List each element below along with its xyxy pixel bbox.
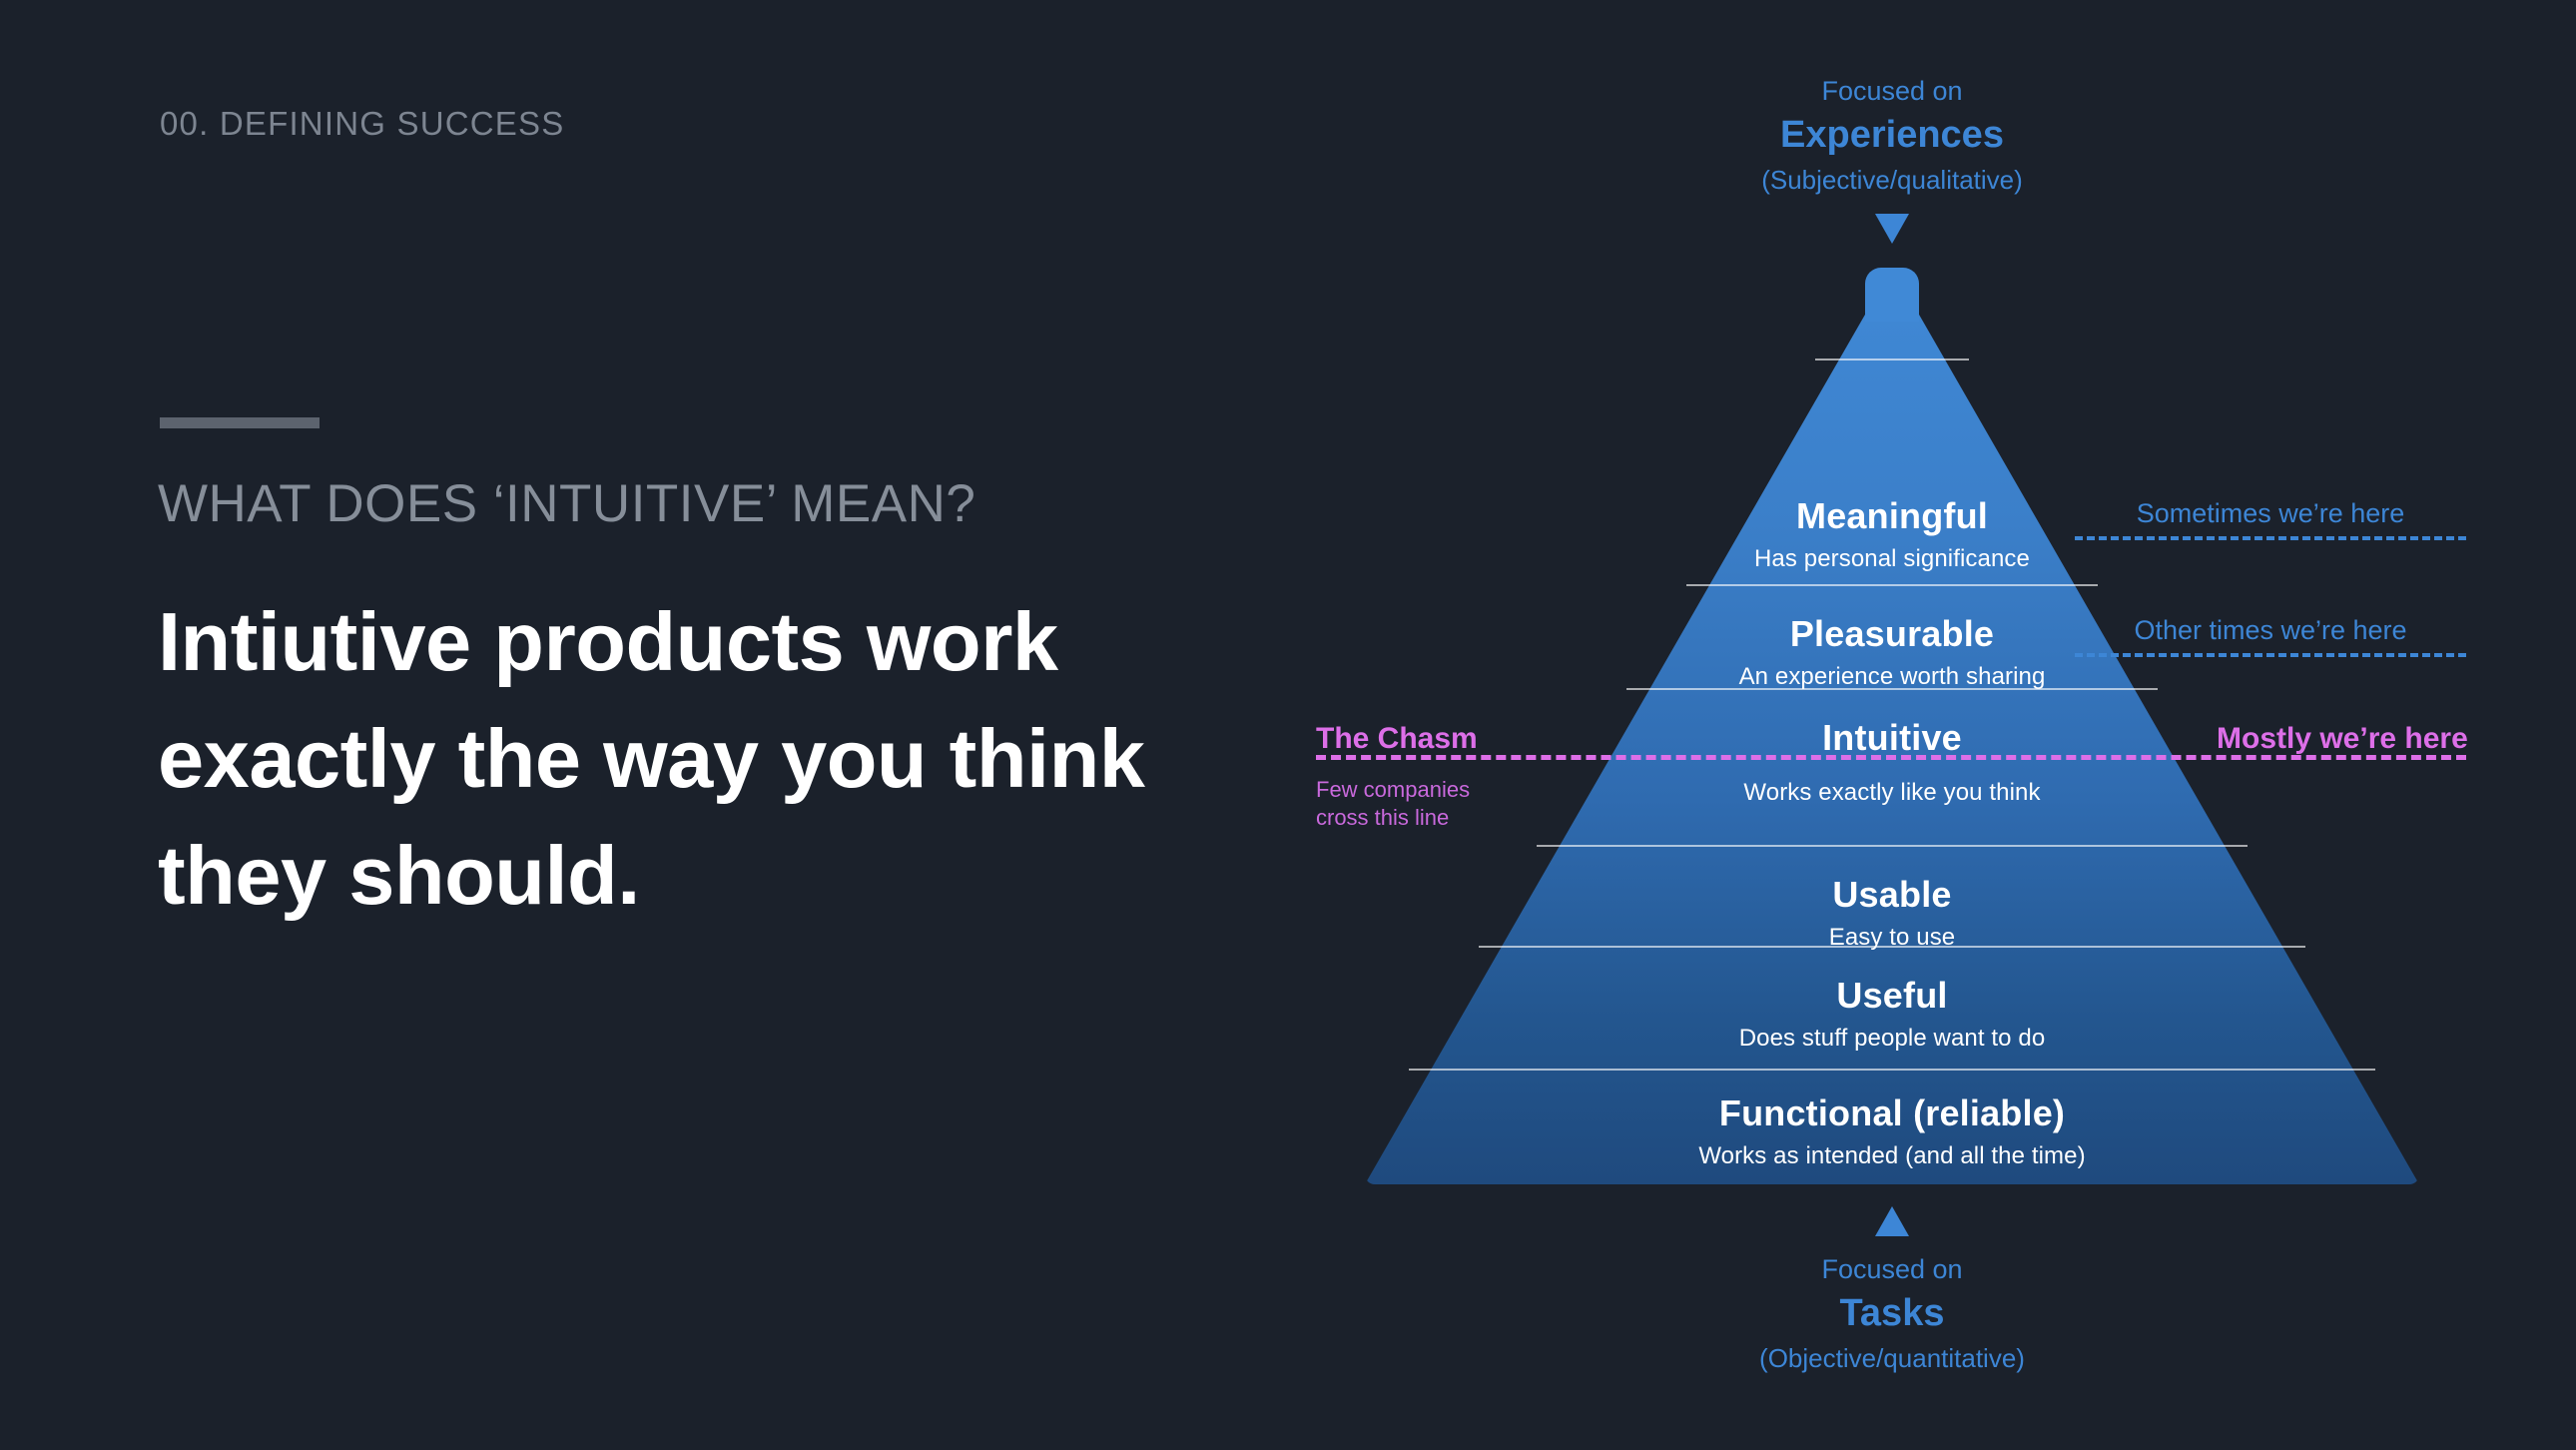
- slide-canvas: 00. DEFINING SUCCESS WHAT DOES ‘INTUITIV…: [0, 0, 2576, 1450]
- page-title: Intiutive products work exactly the way …: [158, 583, 1276, 934]
- annotation-other-times-label: Other times we’re here: [2075, 614, 2466, 646]
- chasm-subtext-line2: cross this line: [1316, 805, 1449, 830]
- chasm-subtext-line1: Few companies: [1316, 777, 1470, 802]
- annotation-other-times: Other times we’re here: [2075, 614, 2466, 657]
- slide-eyebrow: 00. DEFINING SUCCESS: [160, 105, 564, 143]
- annotation-sometimes-rule: [2075, 536, 2466, 540]
- top-cap-paren: (Subjective/qualitative): [1513, 164, 2271, 197]
- bottom-cap-title: Tasks: [1513, 1291, 2271, 1337]
- annotation-other-times-rule: [2075, 653, 2466, 657]
- pyramid-apex: [1865, 268, 1919, 322]
- bottom-cap-paren: (Objective/quantitative): [1513, 1342, 2271, 1375]
- annotation-sometimes: Sometimes we’re here: [2075, 497, 2466, 540]
- tier-divider-5: [1479, 946, 2305, 948]
- tier-divider-3: [1626, 688, 2158, 690]
- bottom-cap-lead: Focused on: [1513, 1253, 2271, 1287]
- pyramid-top-cap: Focused on Experiences (Subjective/quali…: [1513, 75, 2271, 197]
- section-kicker: WHAT DOES ‘INTUITIVE’ MEAN?: [158, 473, 975, 534]
- pyramid-bottom-cap: Focused on Tasks (Objective/quantitative…: [1513, 1253, 2271, 1375]
- tier-divider-1: [1815, 359, 1969, 361]
- annotation-sometimes-label: Sometimes we’re here: [2075, 497, 2466, 529]
- chasm-subtext: Few companies cross this line: [1316, 776, 1470, 832]
- accent-bar-divider: [160, 417, 320, 428]
- top-cap-title: Experiences: [1513, 113, 2271, 159]
- tier-divider-4: [1537, 845, 2248, 847]
- chasm-title: The Chasm: [1316, 722, 1478, 756]
- triangle-up-icon: [1875, 1206, 1909, 1236]
- triangle-down-icon: [1875, 214, 1909, 244]
- tier-divider-2: [1686, 584, 2098, 586]
- annotation-mostly-label: Mostly we’re here: [2217, 722, 2468, 756]
- tier-divider-6: [1409, 1069, 2375, 1071]
- top-cap-lead: Focused on: [1513, 75, 2271, 109]
